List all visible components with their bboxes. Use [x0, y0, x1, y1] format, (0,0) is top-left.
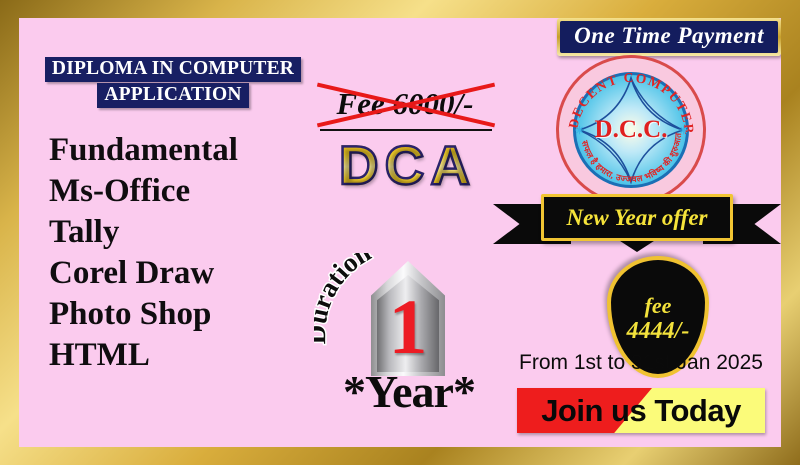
dcc-logo: DECENT COMPUTER CLASSES सफल है हमारा, उज…: [555, 54, 707, 206]
join-us-today-banner[interactable]: Join us Today: [517, 388, 765, 433]
one-time-payment-badge: One Time Payment: [557, 18, 781, 56]
join-banner-red-panel: [517, 388, 652, 433]
page-title-line-2: APPLICATION: [97, 83, 248, 108]
old-fee-underline: [320, 129, 492, 131]
course-list: Fundamental Ms-Office Tally Corel Draw P…: [49, 130, 238, 376]
list-item: Photo Shop: [49, 294, 238, 335]
duration-number: 1: [377, 279, 439, 374]
svg-text:✳: ✳: [679, 125, 688, 137]
duration-badge: 1 Duration *Year*: [314, 253, 504, 428]
new-year-offer-ribbon: New Year offer: [493, 194, 781, 252]
page-title-line-1: DIPLOMA IN COMPUTER: [45, 57, 301, 82]
old-fee-struck-through: Fee 6000/-: [315, 80, 495, 138]
list-item: Tally: [49, 212, 238, 253]
dcc-logo-graphic: DECENT COMPUTER CLASSES सफल है हमारा, उज…: [555, 54, 707, 206]
one-time-payment-label: One Time Payment: [574, 24, 764, 48]
program-code-title: DCA: [315, 138, 500, 193]
one-time-payment-badge-inner: One Time Payment: [560, 21, 778, 53]
duration-label: Duration: [314, 253, 376, 344]
svg-text:✳: ✳: [575, 125, 584, 137]
page-title: DIPLOMA IN COMPUTER APPLICATION: [35, 57, 311, 108]
offer-validity-text: From 1st to 31st Jan 2025: [519, 351, 763, 375]
list-item: Ms-Office: [49, 171, 238, 212]
list-item: HTML: [49, 335, 238, 376]
list-item: Fundamental: [49, 130, 238, 171]
flyer-canvas: One Time Payment DIPLOMA IN COMPUTER APP…: [19, 18, 781, 447]
new-year-offer-label: New Year offer: [541, 194, 733, 241]
promotional-flyer: One Time Payment DIPLOMA IN COMPUTER APP…: [0, 0, 800, 465]
list-item: Corel Draw: [49, 253, 238, 294]
duration-unit: *Year*: [314, 365, 504, 418]
